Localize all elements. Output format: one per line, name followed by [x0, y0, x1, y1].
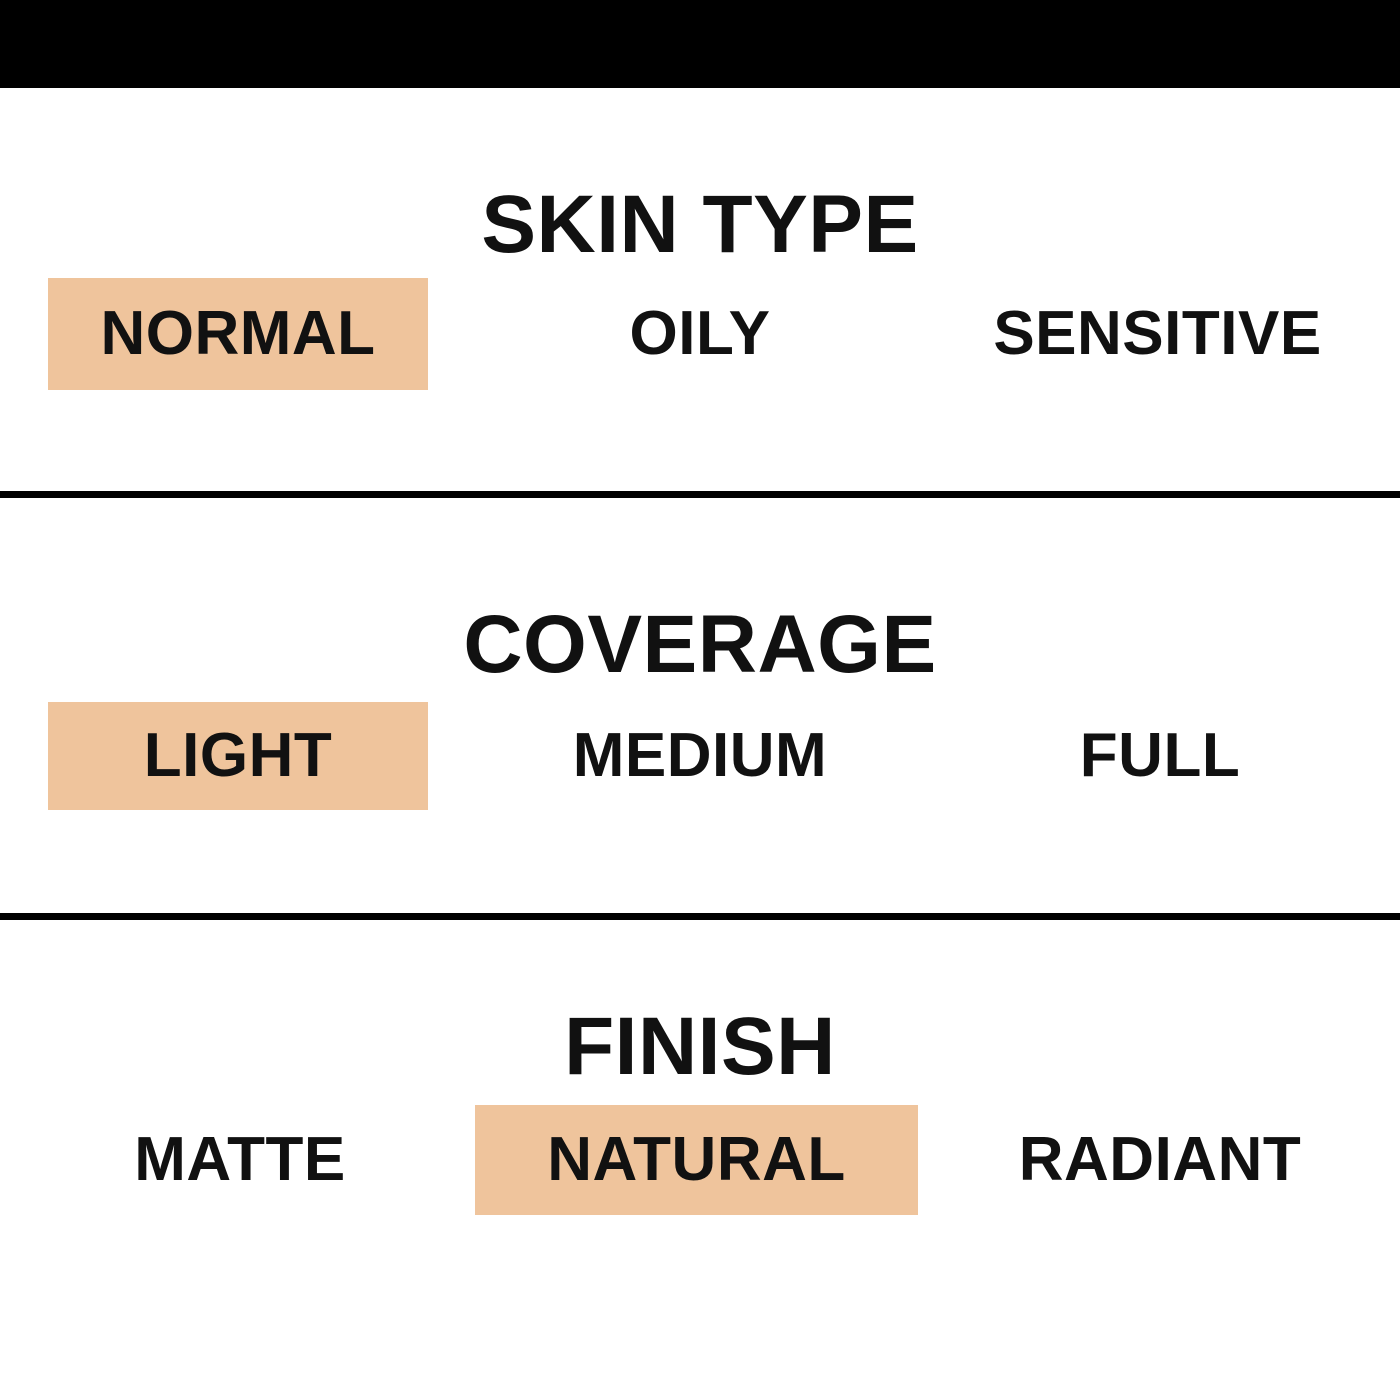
option-normal[interactable]: NORMAL [48, 278, 428, 390]
section-title-skin-type: SKIN TYPE [0, 184, 1400, 266]
product-attribute-selector: SKIN TYPE NORMAL OILY SENSITIVE COVERAGE… [0, 0, 1400, 1400]
section-title-finish: FINISH [0, 1006, 1400, 1088]
option-sensitive[interactable]: SENSITIVE [960, 290, 1355, 378]
section-title-coverage: COVERAGE [0, 604, 1400, 686]
option-medium[interactable]: MEDIUM [540, 712, 860, 800]
options-row-skin-type: NORMAL OILY SENSITIVE [0, 278, 1400, 398]
options-row-finish: MATTE NATURAL RADIANT [0, 1105, 1400, 1225]
section-finish: FINISH MATTE NATURAL RADIANT [0, 920, 1400, 1400]
section-divider-1 [0, 491, 1400, 498]
option-light[interactable]: LIGHT [48, 702, 428, 810]
option-natural[interactable]: NATURAL [475, 1105, 918, 1215]
section-divider-2 [0, 913, 1400, 920]
option-full[interactable]: FULL [1060, 712, 1260, 800]
section-coverage: COVERAGE LIGHT MEDIUM FULL [0, 498, 1400, 913]
section-skin-type: SKIN TYPE NORMAL OILY SENSITIVE [0, 88, 1400, 491]
option-oily[interactable]: OILY [600, 290, 800, 378]
top-black-band [0, 0, 1400, 88]
option-radiant[interactable]: RADIANT [985, 1116, 1335, 1204]
options-row-coverage: LIGHT MEDIUM FULL [0, 702, 1400, 822]
option-matte[interactable]: MATTE [110, 1116, 370, 1204]
